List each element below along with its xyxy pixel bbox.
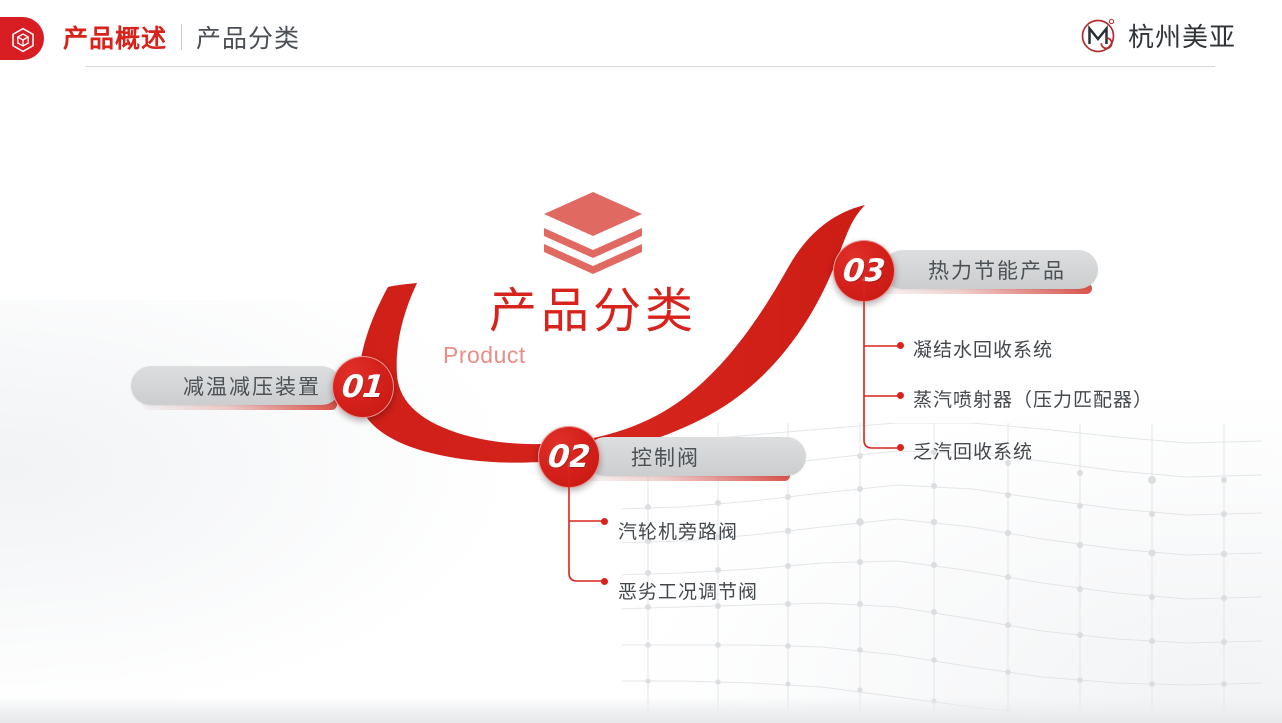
slide-header: 产品概述 产品分类 杭州美亚 xyxy=(0,0,1282,85)
red-curved-arc-swoosh xyxy=(0,0,1282,723)
node-02-subitem-0[interactable]: 汽轮机旁路阀 xyxy=(618,517,738,544)
node-02-subitem-dot xyxy=(601,578,608,585)
node-01-number: 01 xyxy=(341,369,386,405)
node-03-number: 03 xyxy=(842,253,887,289)
slide-canvas: 产品概述 产品分类 杭州美亚 xyxy=(0,0,1282,723)
node-02-label: 控制阀 xyxy=(631,442,700,472)
node-03-subitem-dot xyxy=(897,392,904,399)
node-02-number: 02 xyxy=(547,439,592,475)
breadcrumb-separator xyxy=(181,24,182,50)
m-circle-logo-icon xyxy=(1078,14,1120,56)
node-03-subitem-dot xyxy=(897,444,904,451)
cube-hexagon-icon xyxy=(10,27,36,53)
layers-stack-icon xyxy=(538,186,648,276)
node-03-label: 热力节能产品 xyxy=(928,255,1066,285)
page-title: 产品分类 xyxy=(443,287,743,338)
node-02-pill[interactable]: 控制阀 xyxy=(586,437,806,476)
node-03-pill[interactable]: 热力节能产品 xyxy=(883,250,1098,289)
bottom-band xyxy=(0,697,1282,723)
header-divider xyxy=(85,66,1215,67)
badge-chip xyxy=(0,17,44,60)
node-01-label: 减温减压装置 xyxy=(183,371,321,401)
breadcrumb-item-active[interactable]: 产品概述 xyxy=(63,19,167,55)
node-03-subitem-2[interactable]: 乏汽回收系统 xyxy=(913,437,1033,464)
brand-logo: 杭州美亚 xyxy=(1078,14,1236,56)
node-01-pill[interactable]: 减温减压装置 xyxy=(131,366,341,405)
page-subtitle: Product xyxy=(443,342,526,369)
brand-name: 杭州美亚 xyxy=(1128,17,1236,54)
node-02-subitem-1[interactable]: 恶劣工况调节阀 xyxy=(618,577,758,604)
node-03-subitem-0[interactable]: 凝结水回收系统 xyxy=(913,335,1053,362)
node-03-subitem-dot xyxy=(897,342,904,349)
node-02-subitem-dot xyxy=(601,518,608,525)
node-02-number-circle[interactable]: 02 xyxy=(538,426,600,488)
node-03-connector xyxy=(852,275,922,465)
breadcrumb-item-current[interactable]: 产品分类 xyxy=(196,19,300,55)
node-01-number-circle[interactable]: 01 xyxy=(332,356,394,418)
node-03-subitem-1[interactable]: 蒸汽喷射器（压力匹配器） xyxy=(913,385,1153,412)
center-title-block: 产品分类 Product xyxy=(443,186,743,338)
background-wash-left xyxy=(0,300,520,720)
node-03-number-circle[interactable]: 03 xyxy=(833,240,895,302)
breadcrumb: 产品概述 产品分类 xyxy=(63,19,300,55)
